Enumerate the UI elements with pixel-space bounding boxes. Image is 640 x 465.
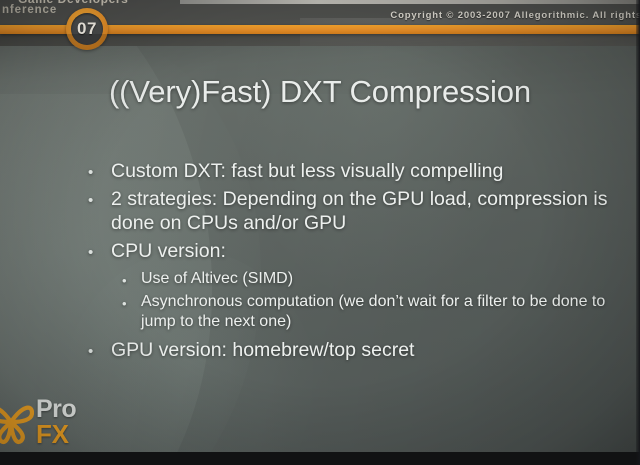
photo-right-frame <box>636 0 640 465</box>
top-edge-strip <box>180 0 640 4</box>
bullet-item: • Custom DXT: fast but less visually com… <box>88 160 613 183</box>
bullet-text: Use of Altivec (SIMD) <box>141 269 613 289</box>
bullet-text: Asynchronous computation (we don’t wait … <box>141 292 613 331</box>
sub-bullet-item: • Asynchronous computation (we don’t wai… <box>122 292 613 331</box>
bullet-text: Custom DXT: fast but less visually compe… <box>111 160 613 183</box>
page-number-label: 07 <box>77 19 97 39</box>
bullet-text: GPU version: homebrew/top secret <box>111 339 613 362</box>
event-subtitle-clipped: nference <box>2 4 57 16</box>
bullet-item: • GPU version: homebrew/top secret <box>88 339 613 362</box>
slide-title: ((Very)Fast) DXT Compression <box>0 74 640 110</box>
bullet-dot-icon: • <box>122 292 141 310</box>
bullet-text: 2 strategies: Depending on the GPU load,… <box>111 188 613 235</box>
butterfly-icon <box>0 398 34 446</box>
bullet-item: • 2 strategies: Depending on the GPU loa… <box>88 188 613 235</box>
bullet-item: • CPU version: <box>88 240 613 263</box>
copyright-notice: Copyright © 2003-2007 Allegorithmic. All… <box>390 10 640 21</box>
bullet-dot-icon: • <box>88 339 111 359</box>
profx-fx-label: FX <box>36 422 76 446</box>
profx-logo: Pro FX <box>0 392 130 452</box>
bullet-dot-icon: • <box>88 240 111 260</box>
bullet-text: CPU version: <box>111 240 613 263</box>
projected-slide-photo: Game Developers nference Copyright © 200… <box>0 0 640 465</box>
bullet-dot-icon: • <box>88 188 111 208</box>
bullet-list: • Custom DXT: fast but less visually com… <box>88 160 613 368</box>
bullet-dot-icon: • <box>88 160 111 180</box>
profx-pro-label: Pro <box>36 398 76 422</box>
slide-surface: Game Developers nference Copyright © 200… <box>0 0 640 452</box>
sub-bullet-item: • Use of Altivec (SIMD) <box>122 269 613 289</box>
profx-wordmark: Pro FX <box>36 398 76 446</box>
bullet-dot-icon: • <box>122 269 141 287</box>
photo-bottom-frame <box>0 452 640 465</box>
page-number-badge: 07 <box>66 8 108 50</box>
